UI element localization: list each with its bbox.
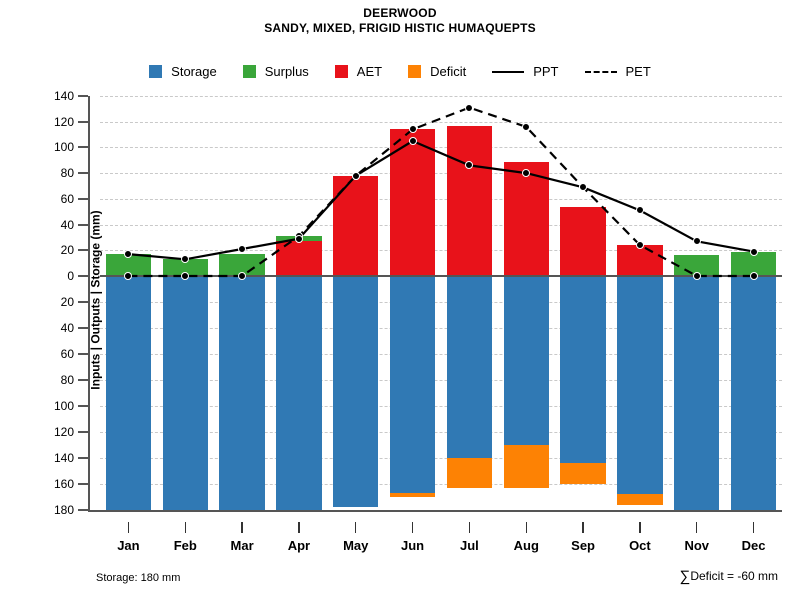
- line-series-layer: [0, 0, 800, 600]
- x-axis-label: Dec: [724, 538, 784, 553]
- pet-marker[interactable]: [465, 104, 473, 112]
- x-axis-label: Feb: [155, 538, 215, 553]
- ppt-marker[interactable]: [238, 245, 246, 253]
- deficit-annotation: ∑Deficit = -60 mm: [680, 568, 778, 585]
- x-axis-tick: [185, 522, 186, 533]
- x-axis-label: Sep: [553, 538, 613, 553]
- ppt-marker[interactable]: [352, 172, 360, 180]
- pet-marker[interactable]: [636, 241, 644, 249]
- ppt-marker[interactable]: [636, 206, 644, 214]
- x-axis-tick: [355, 522, 356, 533]
- sigma-icon: ∑: [680, 568, 691, 585]
- x-axis-tick: [469, 522, 470, 533]
- ppt-marker[interactable]: [693, 237, 701, 245]
- x-axis-tick: [753, 522, 754, 533]
- deficit-annotation-text: Deficit = -60 mm: [690, 569, 778, 583]
- pet-line: [128, 108, 753, 276]
- x-axis-tick: [639, 522, 640, 533]
- x-axis-label: Oct: [610, 538, 670, 553]
- pet-marker[interactable]: [693, 272, 701, 280]
- ppt-marker[interactable]: [409, 137, 417, 145]
- water-balance-chart: DEERWOOD SANDY, MIXED, FRIGID HISTIC HUM…: [0, 0, 800, 600]
- x-axis-label: Mar: [212, 538, 272, 553]
- x-axis-label: Aug: [496, 538, 556, 553]
- storage-annotation: Storage: 180 mm: [96, 572, 180, 584]
- pet-marker[interactable]: [750, 272, 758, 280]
- x-axis-tick: [241, 522, 242, 533]
- ppt-marker[interactable]: [750, 248, 758, 256]
- ppt-marker[interactable]: [181, 255, 189, 263]
- x-axis-tick: [298, 522, 299, 533]
- ppt-marker[interactable]: [295, 235, 303, 243]
- pet-marker[interactable]: [124, 272, 132, 280]
- ppt-marker[interactable]: [465, 161, 473, 169]
- x-axis-label: May: [326, 538, 386, 553]
- ppt-marker[interactable]: [124, 250, 132, 258]
- ppt-line: [128, 141, 753, 259]
- x-axis-label: Apr: [269, 538, 329, 553]
- x-axis-label: Jul: [439, 538, 499, 553]
- x-axis-tick: [696, 522, 697, 533]
- x-axis-tick: [412, 522, 413, 533]
- pet-marker[interactable]: [409, 125, 417, 133]
- pet-marker[interactable]: [522, 123, 530, 131]
- x-axis-label: Jan: [98, 538, 158, 553]
- x-axis-tick: [526, 522, 527, 533]
- x-axis-tick: [582, 522, 583, 533]
- ppt-marker[interactable]: [522, 169, 530, 177]
- pet-marker[interactable]: [238, 272, 246, 280]
- x-axis-label: Nov: [667, 538, 727, 553]
- ppt-marker[interactable]: [579, 183, 587, 191]
- x-axis-label: Jun: [383, 538, 443, 553]
- x-axis-tick: [128, 522, 129, 533]
- pet-marker[interactable]: [181, 272, 189, 280]
